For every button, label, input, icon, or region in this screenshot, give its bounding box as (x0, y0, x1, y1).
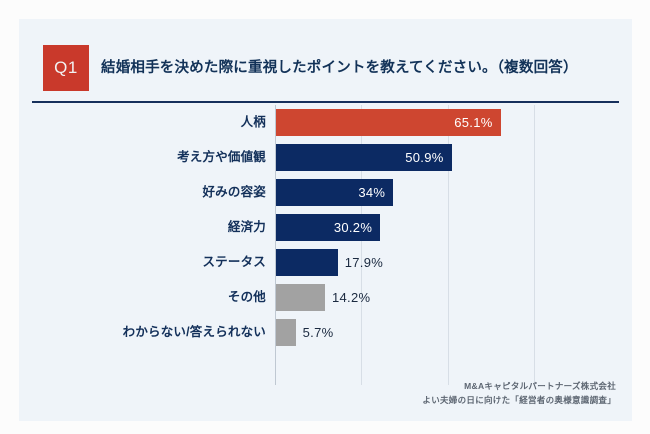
question-title: 結婚相手を決めた際に重視したポイントを教えてください。（複数回答） (101, 55, 621, 81)
bar-value-label: 14.2% (332, 284, 370, 311)
bar-chart: 人柄65.1%考え方や価値観50.9%好みの容姿34%経済力30.2%ステータス… (19, 105, 632, 385)
source-company: M&Aキャピタルパートナーズ株式会社 (422, 379, 616, 393)
bar-category-label: その他 (228, 280, 266, 315)
bar-wrapper: 50.9% (276, 144, 452, 171)
source-credit: M&Aキャピタルパートナーズ株式会社 よい夫婦の日に向けた「経営者の奥様意識調査… (422, 379, 616, 407)
source-survey: よい夫婦の日に向けた「経営者の奥様意識調査」 (422, 393, 616, 407)
bar-category-label: 人柄 (241, 105, 266, 140)
bar (276, 249, 338, 276)
header-divider (32, 101, 619, 103)
bar-value-label: 17.9% (345, 249, 383, 276)
bar-row: 人柄65.1% (19, 105, 632, 140)
bar-rows: 人柄65.1%考え方や価値観50.9%好みの容姿34%経済力30.2%ステータス… (19, 105, 632, 350)
bar-row: 好みの容姿34% (19, 175, 632, 210)
bar-value-label: 50.9% (405, 144, 443, 171)
bar-category-label: ステータス (202, 245, 266, 280)
bar (276, 284, 325, 311)
bar-wrapper (276, 284, 325, 311)
bar-value-label: 65.1% (454, 109, 492, 136)
bar-category-label: わからない/答えられない (123, 315, 266, 350)
bar-wrapper (276, 249, 338, 276)
bar-wrapper: 34% (276, 179, 393, 206)
bar: 50.9% (276, 144, 452, 171)
bar-row: 経済力30.2% (19, 210, 632, 245)
bar-category-label: 好みの容姿 (202, 175, 266, 210)
bar-value-label: 5.7% (303, 319, 334, 346)
screenshot-root: Q1 結婚相手を決めた際に重視したポイントを教えてください。（複数回答） 人柄6… (0, 0, 650, 434)
bar-wrapper: 30.2% (276, 214, 380, 241)
question-number-badge: Q1 (43, 45, 89, 91)
bar (276, 319, 296, 346)
bar-wrapper: 65.1% (276, 109, 501, 136)
survey-card: Q1 結婚相手を決めた際に重視したポイントを教えてください。（複数回答） 人柄6… (19, 19, 632, 421)
bar-category-label: 考え方や価値観 (177, 140, 266, 175)
bar-row: わからない/答えられない5.7% (19, 315, 632, 350)
bar-category-label: 経済力 (228, 210, 266, 245)
bar-row: 考え方や価値観50.9% (19, 140, 632, 175)
bar-wrapper (276, 319, 296, 346)
bar-value-label: 34% (358, 179, 385, 206)
bar-row: ステータス17.9% (19, 245, 632, 280)
bar-value-label: 30.2% (334, 214, 372, 241)
bar-row: その他14.2% (19, 280, 632, 315)
bar: 34% (276, 179, 393, 206)
bar: 65.1% (276, 109, 501, 136)
card-header: Q1 結婚相手を決めた際に重視したポイントを教えてください。（複数回答） (19, 19, 632, 101)
bar: 30.2% (276, 214, 380, 241)
